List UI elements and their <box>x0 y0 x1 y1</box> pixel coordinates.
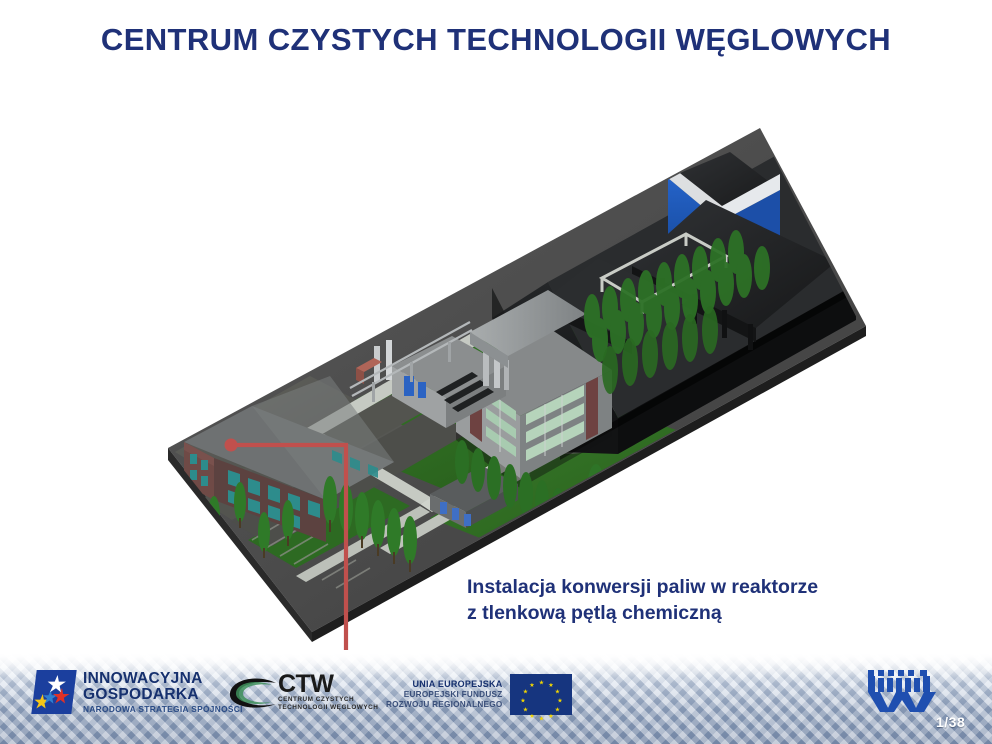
eu-flag-icon <box>510 674 572 715</box>
caption-line-2: z tlenkową pętlą chemiczną <box>467 601 887 627</box>
lab-accent-red-right <box>586 377 598 440</box>
blue-tank-2 <box>418 382 426 398</box>
innowacyjna-gospodarka-icon <box>31 670 76 714</box>
ichpw-icon <box>866 668 938 712</box>
eu-line-1: UNIA EUROPEJSKA <box>386 679 502 690</box>
logo-ichpw <box>866 668 938 712</box>
page-number: 1/38 <box>936 714 965 730</box>
cctw-sub-line-2: TECHNOLOGII WĘGLOWYCH <box>278 704 378 712</box>
logo-innowacyjna-gospodarka: INNOWACYJNA GOSPODARKA NARODOWA STRATEGI… <box>34 670 243 714</box>
logo-cctw: CTW CENTRUM CZYSTYCH TECHNOLOGII WĘGLOWY… <box>228 673 378 712</box>
eu-line-3: ROZWOJU REGIONALNEGO <box>386 700 502 710</box>
ig-line-1: INNOWACYJNA <box>83 671 243 687</box>
caption-line-1: Instalacja konwersji paliw w reaktorze <box>467 575 887 601</box>
ig-line-3: NARODOWA STRATEGIA SPÓJNOŚCI <box>83 705 243 713</box>
callout-caption: Instalacja konwersji paliw w reaktorze z… <box>467 575 887 627</box>
eu-line-2: EUROPEJSKI FUNDUSZ <box>386 690 502 700</box>
presentation-slide: CENTRUM CZYSTYCH TECHNOLOGII WĘGLOWYCH <box>0 0 992 744</box>
slide-title: CENTRUM CZYSTYCH TECHNOLOGII WĘGLOWYCH <box>0 22 992 58</box>
callout-origin-dot <box>225 439 238 452</box>
cctw-sub-line-1: CENTRUM CZYSTYCH <box>278 696 378 704</box>
campus-3d-render <box>0 70 992 650</box>
render-svg <box>0 70 992 650</box>
logo-unia-europejska: UNIA EUROPEJSKA EUROPEJSKI FUNDUSZ ROZWO… <box>386 674 572 715</box>
cctw-swoosh-icon <box>228 677 282 709</box>
cctw-wordmark: CTW <box>278 673 378 696</box>
ig-line-2: GOSPODARKA <box>83 687 243 703</box>
